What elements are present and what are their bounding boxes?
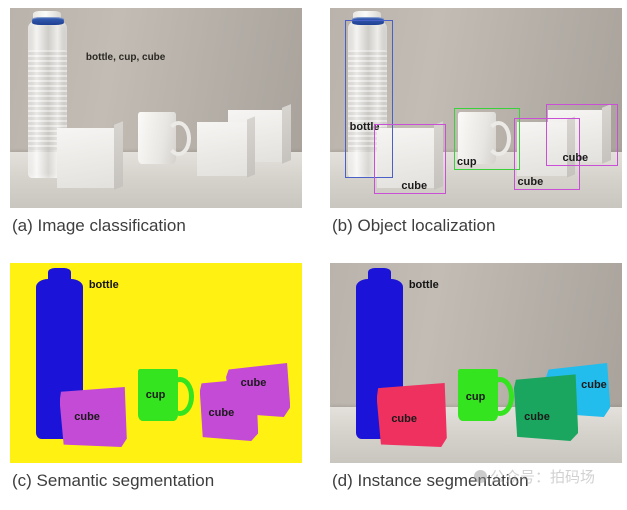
scene-mask-c: bottle cube cup cube cube bbox=[10, 263, 302, 463]
cube-front-face bbox=[57, 128, 115, 188]
cube-side-face bbox=[282, 104, 291, 164]
caption-panel-a: (a) Image classification bbox=[12, 216, 186, 236]
caption-panel-c: (c) Semantic segmentation bbox=[12, 471, 214, 491]
classification-label: bottle, cup, cube bbox=[86, 52, 165, 63]
scene-photo-b: bottle cube cup cube cube bbox=[330, 8, 622, 208]
cube-side-face bbox=[114, 121, 123, 190]
panel-instance-segmentation: bottle cube cup cube cube bbox=[330, 263, 622, 463]
bottle-cap bbox=[32, 17, 64, 25]
instance-label-cube-pink: cube bbox=[391, 413, 417, 425]
mask-label-cup: cup bbox=[146, 389, 166, 401]
cube-object-right bbox=[197, 122, 248, 176]
mask-label-bottle: bottle bbox=[89, 279, 119, 291]
cube-side-face bbox=[247, 116, 255, 178]
watermark-text: 公众号：拍码场 bbox=[490, 466, 595, 487]
mask-label-cube-right: cube bbox=[209, 407, 235, 419]
cube-object-left bbox=[57, 128, 115, 188]
instance-label-cube-green: cube bbox=[524, 411, 550, 423]
cube-front-face bbox=[197, 122, 248, 176]
bbox-cube-left[interactable]: cube bbox=[374, 124, 446, 194]
panel-image-classification: bottle, cup, cube bbox=[10, 8, 302, 208]
panel-object-localization: bottle cube cup cube cube bbox=[330, 8, 622, 208]
bbox-label-cup: cup bbox=[457, 156, 477, 168]
scene-photo-a: bottle, cup, cube bbox=[10, 8, 302, 208]
bbox-cube-right[interactable]: cube bbox=[546, 104, 618, 166]
watermark: 公众号：拍码场 bbox=[474, 466, 595, 487]
instance-label-cup: cup bbox=[466, 391, 486, 403]
figure-grid: bottle, cup, cube (a) Image classificati… bbox=[0, 0, 627, 510]
cup-object bbox=[138, 112, 176, 164]
bbox-label-cube-left: cube bbox=[401, 180, 427, 192]
instance-label-bottle: bottle bbox=[409, 279, 439, 291]
caption-panel-b: (b) Object localization bbox=[332, 216, 495, 236]
bbox-label-cube-right: cube bbox=[562, 152, 588, 164]
wechat-icon bbox=[474, 470, 487, 483]
panel-semantic-segmentation: bottle cube cup cube cube bbox=[10, 263, 302, 463]
bbox-cup[interactable]: cup bbox=[454, 108, 520, 170]
scene-mask-d: bottle cube cup cube cube bbox=[330, 263, 622, 463]
mask-label-cube-back-right: cube bbox=[241, 377, 267, 389]
instance-label-cube-cyan: cube bbox=[581, 379, 607, 391]
mask-label-cube-left: cube bbox=[74, 411, 100, 423]
instance-mask-cube-green bbox=[514, 373, 578, 441]
bbox-label-cube-middle: cube bbox=[518, 176, 544, 188]
